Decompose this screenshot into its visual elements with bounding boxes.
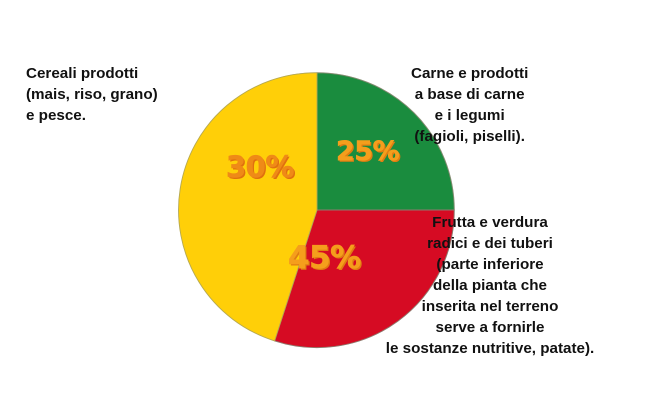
annotation-cereals-line: (mais, riso, grano)	[26, 84, 158, 105]
annotation-fruit: Frutta e verdura radici e dei tuberi (pa…	[340, 212, 640, 359]
pie-chart-figure: 25% 30% 45% Cereali prodotti (mais, riso…	[0, 0, 650, 410]
annotation-meat-line: (fagioli, piselli).	[411, 126, 528, 147]
annotation-meat-line: a base di carne	[411, 84, 528, 105]
annotation-fruit-line: serve a fornirle	[340, 317, 640, 338]
annotation-meat-line: Carne e prodotti	[411, 63, 528, 84]
annotation-meat: Carne e prodotti a base di carne e i leg…	[411, 63, 528, 147]
annotation-fruit-line: inserita nel terreno	[340, 296, 640, 317]
annotation-cereals-line: Cereali prodotti	[26, 63, 158, 84]
annotation-cereals: Cereali prodotti (mais, riso, grano) e p…	[26, 63, 158, 126]
annotation-fruit-line: (parte inferiore	[340, 254, 640, 275]
annotation-meat-line: e i legumi	[411, 105, 528, 126]
annotation-fruit-line: della pianta che	[340, 275, 640, 296]
pie-value-label-meat: 25%	[336, 138, 399, 165]
annotation-cereals-line: e pesce.	[26, 105, 158, 126]
annotation-fruit-line: radici e dei tuberi	[340, 233, 640, 254]
annotation-fruit-line: Frutta e verdura	[340, 212, 640, 233]
annotation-fruit-line: le sostanze nutritive, patate).	[340, 338, 640, 359]
pie-value-label-cereals: 30%	[226, 153, 294, 182]
